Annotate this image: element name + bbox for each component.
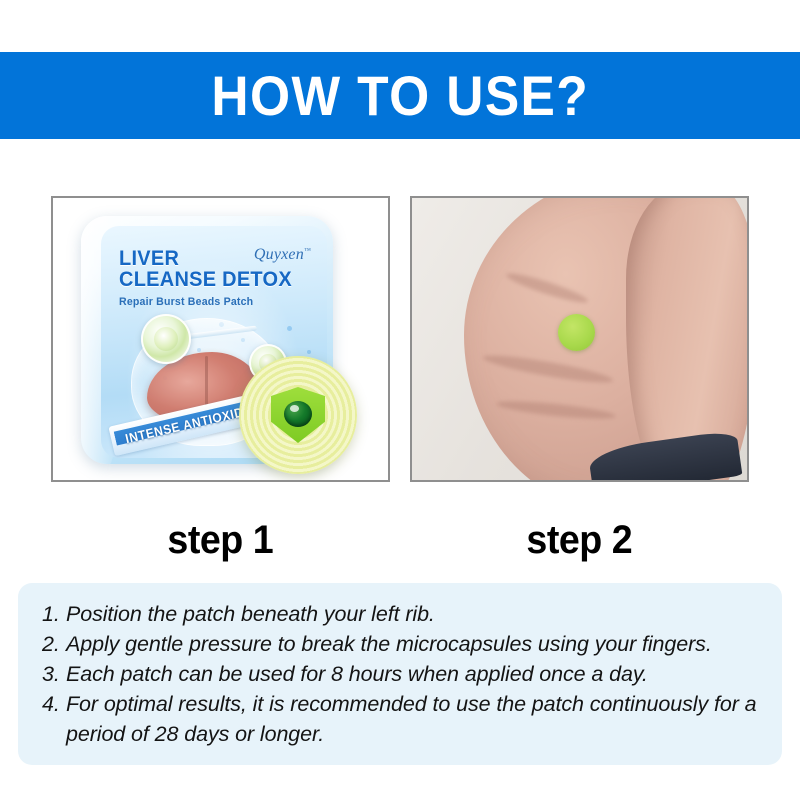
instruction-text: Position the patch beneath your left rib… bbox=[66, 599, 760, 629]
package-subtitle: Repair Burst Beads Patch bbox=[119, 296, 253, 308]
instructions-list: 1. Position the patch beneath your left … bbox=[42, 599, 760, 749]
instruction-item: 3. Each patch can be used for 8 hours wh… bbox=[42, 659, 760, 689]
step-2-label: step 2 bbox=[527, 518, 633, 563]
step-1-column: Quyxen™ LIVER CLEANSE DETOX Repair Burst… bbox=[49, 196, 392, 563]
how-to-use-banner: HOW TO USE? bbox=[0, 52, 800, 139]
instruction-item: 2. Apply gentle pressure to break the mi… bbox=[42, 629, 760, 659]
patch-applied-on-torso-photo bbox=[410, 196, 749, 482]
step-1-label: step 1 bbox=[168, 518, 274, 563]
sparkle-icon bbox=[287, 326, 292, 331]
instruction-text: Each patch can be used for 8 hours when … bbox=[66, 659, 760, 689]
sparkle-icon bbox=[307, 350, 311, 354]
package-title: LIVER CLEANSE DETOX bbox=[119, 248, 292, 290]
package-title-line-1: LIVER bbox=[119, 247, 179, 270]
instruction-item: 4. For optimal results, it is recommende… bbox=[42, 689, 760, 749]
instruction-number: 2. bbox=[42, 629, 66, 659]
applied-patch-indicator bbox=[558, 314, 595, 351]
steps-row: Quyxen™ LIVER CLEANSE DETOX Repair Burst… bbox=[0, 196, 800, 563]
bead-lens-icon bbox=[141, 314, 191, 364]
instruction-text: For optimal results, it is recommended t… bbox=[66, 689, 760, 749]
patch-product-illustration bbox=[239, 356, 357, 474]
instruction-number: 3. bbox=[42, 659, 66, 689]
body-scene bbox=[412, 198, 747, 480]
step-2-column: step 2 bbox=[408, 196, 751, 563]
product-package-photo: Quyxen™ LIVER CLEANSE DETOX Repair Burst… bbox=[51, 196, 390, 482]
package-title-line-2: CLEANSE DETOX bbox=[119, 269, 292, 290]
instructions-panel: 1. Position the patch beneath your left … bbox=[18, 583, 782, 765]
instruction-item: 1. Position the patch beneath your left … bbox=[42, 599, 760, 629]
page-title: HOW TO USE? bbox=[211, 68, 589, 124]
instruction-text: Apply gentle pressure to break the micro… bbox=[66, 629, 760, 659]
instruction-number: 1. bbox=[42, 599, 66, 629]
gel-bead-icon bbox=[284, 401, 312, 427]
package-scene: Quyxen™ LIVER CLEANSE DETOX Repair Burst… bbox=[53, 198, 388, 480]
instruction-number: 4. bbox=[42, 689, 66, 719]
trademark-symbol: ™ bbox=[304, 247, 311, 255]
